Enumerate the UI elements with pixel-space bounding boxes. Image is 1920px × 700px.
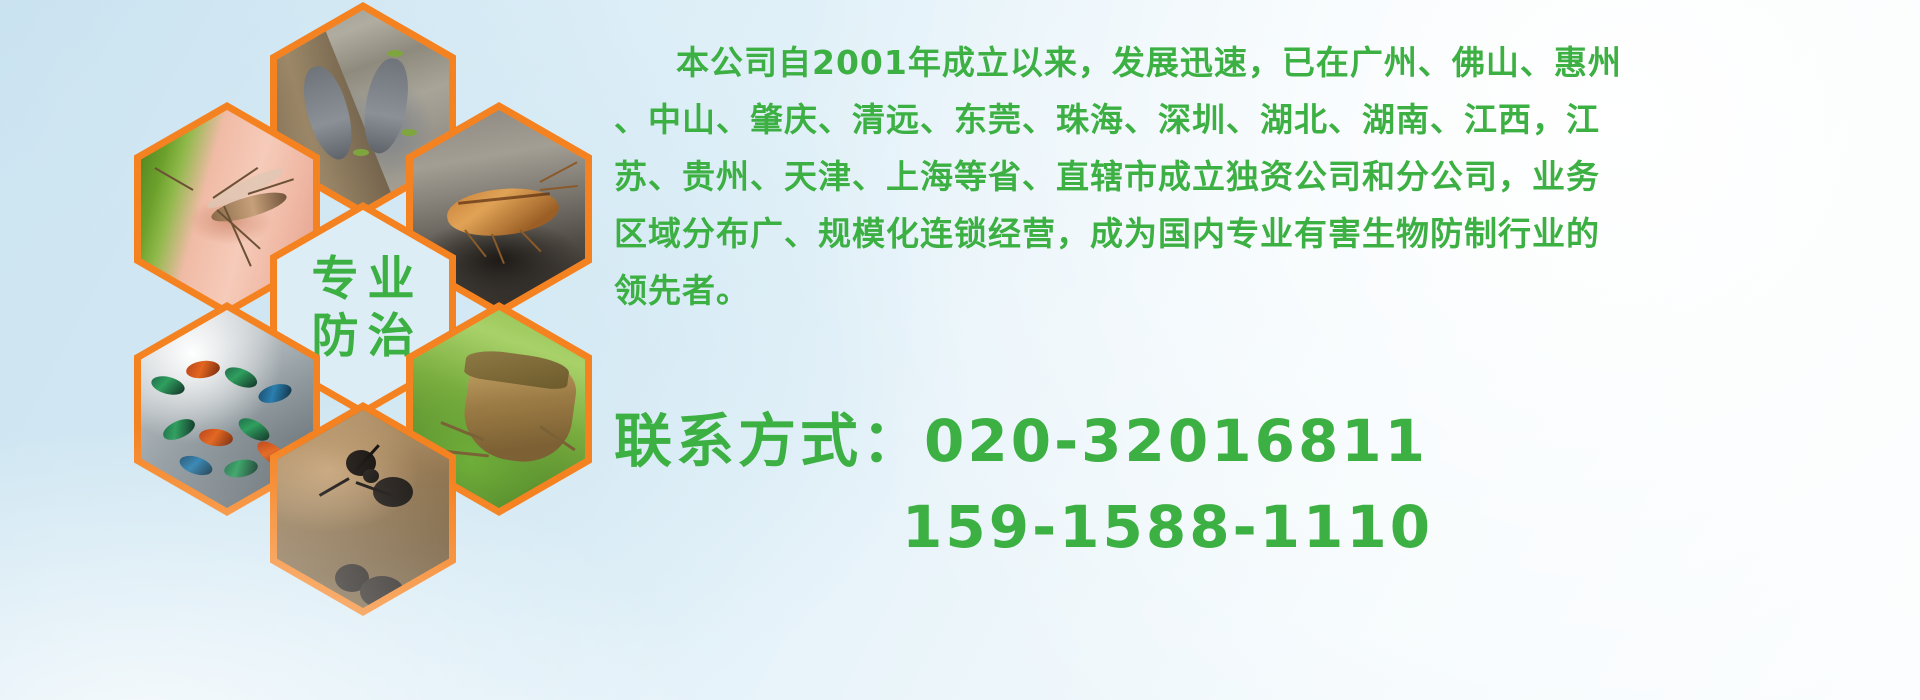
hexagon-photo-cluster: 专业 防治 [88, 0, 608, 590]
contact-phone-primary-row: 联系方式：020-32016811 [614, 398, 1854, 484]
description-line-5: 领先者。 [614, 262, 1854, 319]
contact-phone-secondary-row: 159-1588-1110 [614, 484, 1854, 570]
promo-banner: 专业 防治 [0, 0, 1920, 700]
description-line-3: 苏、贵州、天津、上海等省、直辖市成立独资公司和分公司，业务 [614, 148, 1854, 205]
description-line-4: 区域分布广、规模化连锁经营，成为国内专业有害生物防制行业的 [614, 205, 1854, 262]
slogan-line-1: 专业 [303, 255, 424, 306]
description-line-2: 、中山、肇庆、清远、东莞、珠海、深圳、湖北、湖南、江西，江 [614, 91, 1854, 148]
contact-phone-secondary[interactable]: 159-1588-1110 [902, 493, 1433, 561]
company-description: 本公司自2001年成立以来，发展迅速，已在广州、佛山、惠州 、中山、肇庆、清远、… [614, 34, 1854, 319]
hex-inner-ant [277, 410, 449, 608]
ant-photo [277, 410, 449, 608]
contact-block: 联系方式：020-32016811 159-1588-1110 [614, 398, 1854, 570]
description-line-1: 本公司自2001年成立以来，发展迅速，已在广州、佛山、惠州 [614, 34, 1854, 91]
contact-label: 联系方式： [614, 407, 924, 475]
contact-phone-primary[interactable]: 020-32016811 [924, 407, 1428, 475]
slogan-line-2: 防治 [303, 312, 424, 363]
